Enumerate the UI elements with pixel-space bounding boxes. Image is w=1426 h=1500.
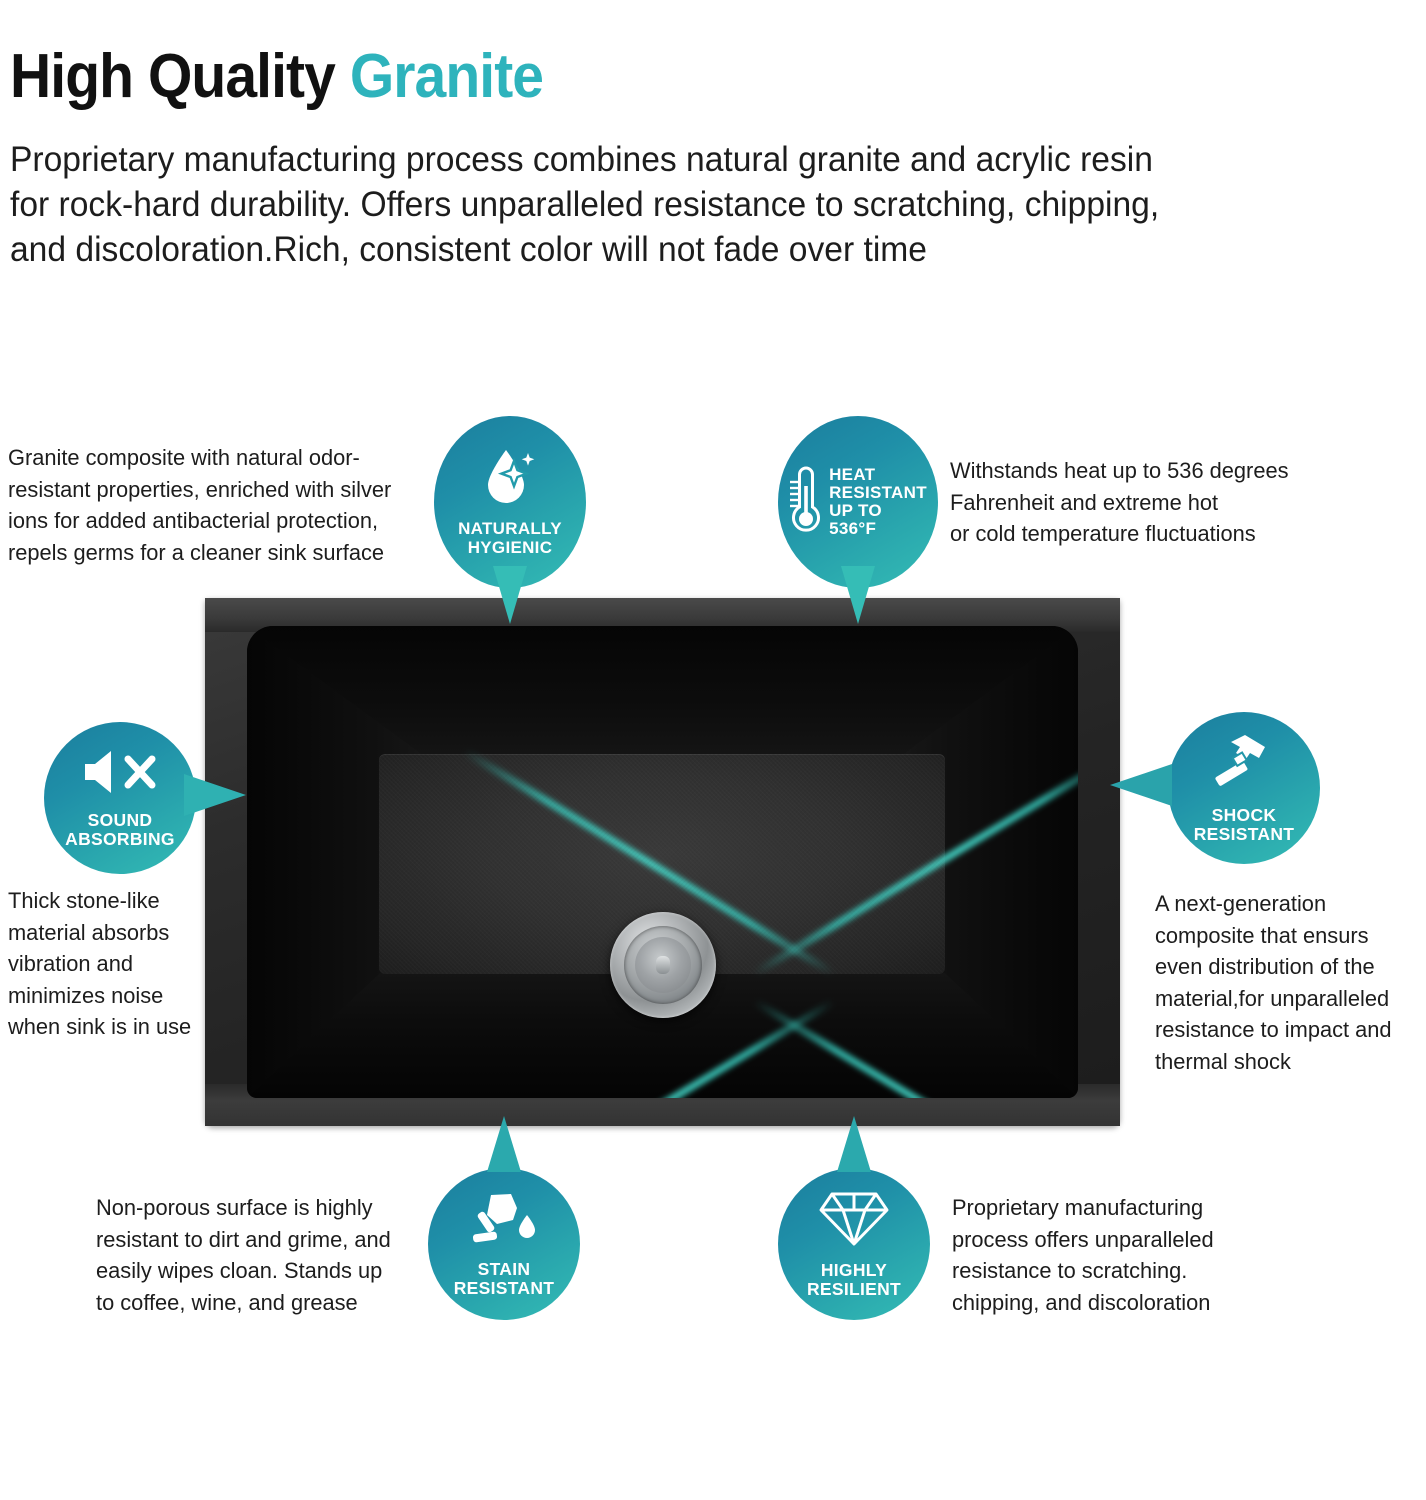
badge-label: NATURALLY HYGIENIC <box>458 520 562 556</box>
page-subtitle: Proprietary manufacturing process combin… <box>10 138 1325 272</box>
sink-basin <box>247 626 1078 1098</box>
infographic-page: High Quality Granite Proprietary manufac… <box>0 0 1426 1500</box>
feature-badge-sound-absorbing[interactable]: SOUND ABSORBING <box>44 722 196 874</box>
sink-drain <box>610 912 716 1018</box>
water-drop-sparkle-icon <box>480 447 540 514</box>
feature-badge-heat-resistant[interactable]: HEAT RESISTANT UP TO 536°F <box>778 416 938 588</box>
feature-badge-highly-resilient[interactable]: HIGHLY RESILIENT <box>778 1168 930 1320</box>
badge-pointer-up <box>487 1116 521 1172</box>
wine-glass-drop-icon <box>471 1191 537 1252</box>
feature-description-naturally-hygienic: Granite composite with natural odor- res… <box>8 442 391 568</box>
feature-description-heat-resistant: Withstands heat up to 536 degrees Fahren… <box>950 455 1289 550</box>
page-title: High Quality Granite <box>10 46 543 108</box>
thermometer-icon <box>789 462 823 543</box>
feature-badge-shock-resistant[interactable]: SHOCK RESISTANT <box>1168 712 1320 864</box>
drain-inner <box>635 937 691 993</box>
badge-label: STAIN RESISTANT <box>454 1260 555 1297</box>
feature-badge-stain-resistant[interactable]: STAIN RESISTANT <box>428 1168 580 1320</box>
feature-description-shock-resistant: A next-generation composite that ensurs … <box>1155 888 1392 1077</box>
badge-pointer-down <box>493 566 527 624</box>
drain-ring <box>624 926 702 1004</box>
badge-label: HEAT RESISTANT UP TO 536°F <box>829 466 927 538</box>
product-sink-image <box>205 598 1120 1126</box>
badge-label: SHOCK RESISTANT <box>1194 806 1295 843</box>
badge-pointer-up <box>837 1116 871 1172</box>
subtitle-line-1: Proprietary manufacturing process combin… <box>10 138 1325 183</box>
badge-label: SOUND ABSORBING <box>65 811 175 848</box>
feature-badge-naturally-hygienic[interactable]: NATURALLY HYGIENIC <box>434 416 586 588</box>
diamond-icon <box>819 1190 889 1253</box>
feature-description-sound-absorbing: Thick stone-like material absorbs vibrat… <box>8 885 191 1043</box>
hammer-icon <box>1212 733 1276 798</box>
title-accent-text: Granite <box>350 42 543 111</box>
drain-knob <box>656 956 670 974</box>
feature-description-stain-resistant: Non-porous surface is highly resistant t… <box>96 1192 391 1318</box>
subtitle-line-3: and discoloration.Rich, consistent color… <box>10 228 1325 273</box>
feature-description-highly-resilient: Proprietary manufacturing process offers… <box>952 1192 1214 1318</box>
badge-pointer-down <box>841 566 875 624</box>
title-main-text: High Quality <box>10 42 335 111</box>
badge-pointer-left <box>1110 764 1172 806</box>
badge-pointer-right <box>184 774 246 816</box>
speaker-mute-icon <box>81 748 159 801</box>
subtitle-line-2: for rock-hard durability. Offers unparal… <box>10 183 1325 228</box>
badge-label: HIGHLY RESILIENT <box>807 1261 901 1298</box>
